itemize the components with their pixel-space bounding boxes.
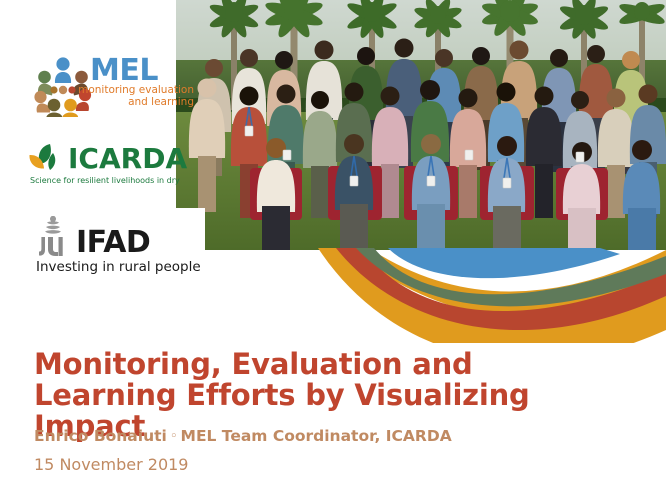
logo-stack: MEL monitoring evaluation and learning I… <box>0 0 200 300</box>
ifad-wordmark: IFAD <box>76 228 150 258</box>
arc-blue-band <box>388 248 620 278</box>
ifad-tagline: Investing in rural people <box>36 259 201 275</box>
ifad-wheat-icon <box>36 216 80 258</box>
mel-logo: MEL monitoring evaluation and learning <box>32 52 194 130</box>
mel-wordmark: MEL <box>90 56 158 86</box>
mel-tagline: monitoring evaluation and learning <box>76 85 194 108</box>
icarda-tagline: Science for resilient livelihoods in dry <box>30 176 180 185</box>
separator-bullet: ◦ <box>167 429 181 444</box>
ifad-logo: IFAD Investing in rural people <box>36 216 196 276</box>
presenter-line: Enrico Bonaiuti◦MEL Team Coordinator, IC… <box>34 427 452 445</box>
icarda-wordmark: ICARDA <box>68 145 187 173</box>
group-photo-image <box>176 0 666 250</box>
icarda-leaf-icon <box>28 142 68 176</box>
presenter-name: Enrico Bonaiuti <box>34 427 167 445</box>
slide-date: 15 November 2019 <box>34 455 188 474</box>
group-photo <box>176 0 666 250</box>
icarda-logo: ICARDA Science for resilient livelihoods… <box>28 142 196 194</box>
presentation-slide: MEL monitoring evaluation and learning I… <box>0 0 666 500</box>
presenter-role: MEL Team Coordinator, ICARDA <box>181 427 452 445</box>
